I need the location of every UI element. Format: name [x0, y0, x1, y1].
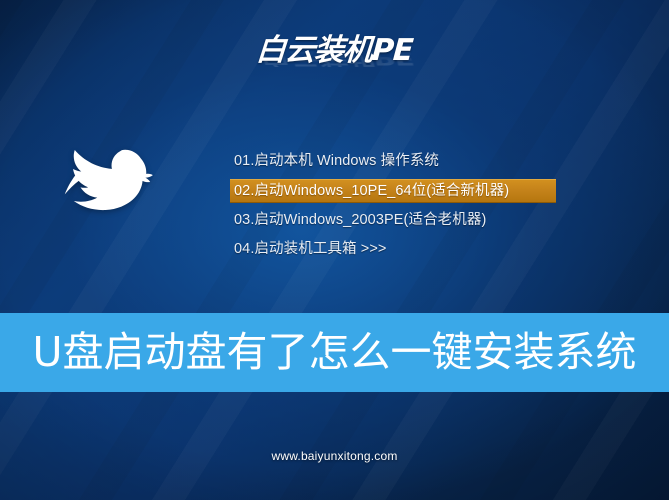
brand-logo: 白云装机PE 白云装机PE — [0, 36, 669, 97]
bird-icon — [62, 142, 158, 222]
boot-menu-item-01[interactable]: 01.启动本机 Windows 操作系统 — [230, 150, 560, 173]
boot-menu-list[interactable]: 01.启动本机 Windows 操作系统 02.启动Windows_10PE_6… — [230, 150, 560, 267]
boot-menu-screen: 白云装机PE 白云装机PE 01.启动本机 Windows 操作系统 02.启动… — [0, 0, 669, 500]
boot-menu-item-02[interactable]: 02.启动Windows_10PE_64位(适合新机器) — [230, 179, 556, 203]
brand-logo-reflection: 白云装机PE — [0, 48, 669, 67]
headline-banner-text: U盘启动盘有了怎么一键安装系统 — [32, 332, 636, 373]
footer: www.baiyunxitong.com — [0, 447, 669, 465]
headline-banner: U盘启动盘有了怎么一键安装系统 — [0, 313, 669, 392]
boot-menu-item-03[interactable]: 03.启动Windows_2003PE(适合老机器) — [230, 209, 560, 232]
boot-menu-item-04[interactable]: 04.启动装机工具箱 >>> — [230, 238, 560, 261]
footer-website-url: www.baiyunxitong.com — [271, 449, 397, 463]
